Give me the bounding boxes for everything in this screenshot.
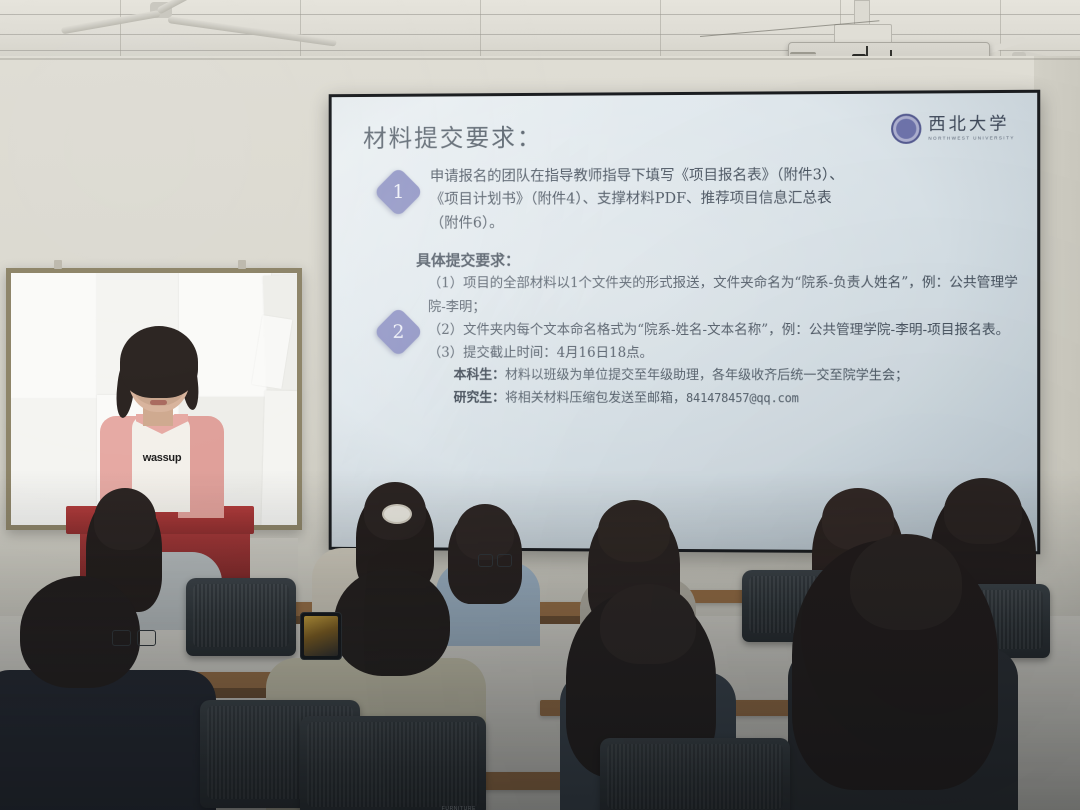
logo-name-cn: 西北大学 bbox=[928, 116, 1014, 134]
sub-heading: 具体提交要求： bbox=[416, 249, 1021, 271]
chair bbox=[600, 738, 790, 810]
marker-number-1: 1 bbox=[392, 181, 404, 203]
marker-number-2: 2 bbox=[392, 321, 404, 343]
wall-ceiling-seam bbox=[0, 58, 1080, 60]
contact-email: 841478457@qq.com bbox=[686, 391, 799, 405]
presenter-hair bbox=[120, 326, 198, 398]
eyeglasses bbox=[112, 630, 156, 642]
classroom-photo: 材料提交要求： 西北大学 NORTHWEST UNIVERSITY 1 申请报名… bbox=[0, 0, 1080, 810]
slide-block-1: 1 申请报名的团队在指导教师指导下填写《项目报名表》（附件3）、 《项目计划书》… bbox=[355, 164, 1021, 237]
presenter-shirt-text: wassup bbox=[134, 452, 190, 464]
chair-brand-label: FURNITURE bbox=[442, 806, 476, 810]
logo-name-en: NORTHWEST UNIVERSITY bbox=[928, 136, 1014, 141]
eyeglasses bbox=[478, 554, 512, 566]
presenter-mouth bbox=[150, 400, 167, 405]
university-logo: 西北大学 NORTHWEST UNIVERSITY bbox=[891, 113, 1015, 144]
projection-screen: 材料提交要求： 西北大学 NORTHWEST UNIVERSITY 1 申请报名… bbox=[329, 90, 1041, 555]
marker-diamond-1: 1 bbox=[373, 167, 423, 218]
sub-item-undergrad-text: 材料以班级为单位提交至年级助理，各年级收齐后统一交至院学生会； bbox=[505, 368, 908, 384]
slide-title: 材料提交要求： bbox=[363, 118, 543, 154]
block-1-line-2: 《项目计划书》（附件4）、支撑材料PDF、推荐项目信息汇总表 bbox=[430, 187, 1021, 212]
sub-item-grad-label: 研究生： bbox=[454, 390, 505, 405]
marker-diamond-2: 2 bbox=[373, 307, 423, 358]
sub-item-grad-text: 将相关材料压缩包发送至邮箱， bbox=[505, 390, 686, 405]
slide-surface: 材料提交要求： 西北大学 NORTHWEST UNIVERSITY 1 申请报名… bbox=[332, 93, 1038, 551]
slide-body: 1 申请报名的团队在指导教师指导下填写《项目报名表》（附件3）、 《项目计划书》… bbox=[355, 164, 1021, 411]
smartphone[interactable] bbox=[300, 612, 342, 660]
block-1-line-1: 申请报名的团队在指导教师指导下填写《项目报名表》（附件3）、 bbox=[430, 164, 1021, 190]
block-1-text: 申请报名的团队在指导教师指导下填写《项目报名表》（附件3）、 《项目计划书》（附… bbox=[430, 164, 1021, 237]
chair: FURNITURE bbox=[300, 716, 486, 810]
wall-right-panel bbox=[1034, 56, 1080, 616]
slide-block-2: 2 （1）项目的全部材料以1个文件夹的形式报送，文件夹命名为“院系-负责人姓名”… bbox=[355, 272, 1021, 411]
slide-item-2: （2）文件夹内每个文本命名格式为“院系-姓名-文本名称”，例：公共管理学院-李明… bbox=[428, 319, 1021, 342]
block-1-line-3: （附件6）。 bbox=[430, 211, 1021, 236]
sub-item-undergrad-label: 本科生： bbox=[454, 368, 505, 383]
sub-item-grad: 研究生：将相关材料压缩包发送至邮箱，841478457@qq.com bbox=[454, 387, 1021, 411]
chair bbox=[186, 578, 296, 656]
hair-scrunchie bbox=[382, 504, 412, 524]
slide-item-1: （1）项目的全部材料以1个文件夹的形式报送，文件夹命名为“院系-负责人姓名”，例… bbox=[428, 272, 1021, 319]
logo-seal-icon bbox=[891, 114, 921, 144]
sub-item-undergrad: 本科生：材料以班级为单位提交至年级助理，各年级收齐后统一交至院学生会； bbox=[454, 365, 1021, 388]
slide-item-3: （3）提交截止时间：4月16日18点。 bbox=[428, 342, 1021, 366]
